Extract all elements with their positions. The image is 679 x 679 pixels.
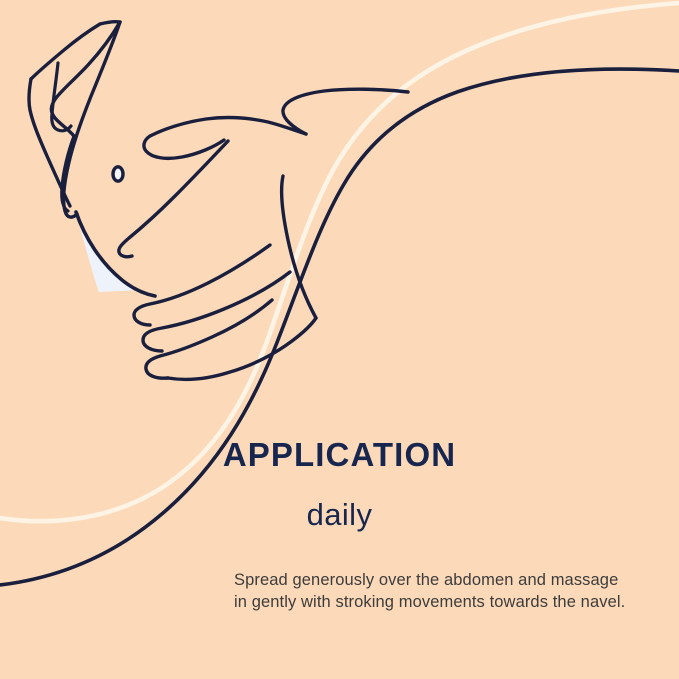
fabric-edge-line: [76, 212, 155, 296]
lower-hand-finger-2: [134, 245, 270, 325]
upper-hand-wrist: [29, 79, 70, 206]
navel: [113, 167, 123, 181]
upper-hand-finger-fold: [62, 136, 74, 211]
lower-hand-wrist-contour: [282, 176, 316, 318]
lower-hand-thumb: [144, 136, 224, 158]
frequency-subtitle: daily: [0, 499, 679, 530]
lower-hand-finger-4: [146, 300, 272, 378]
lower-hand-thumb-top: [150, 118, 306, 136]
lower-hand-outer-edge: [168, 318, 316, 379]
upper-hand-outer-edge: [51, 22, 120, 136]
upper-hand-thumb: [64, 22, 120, 217]
text-block: APPLICATION daily: [0, 438, 679, 530]
lower-hand-top-edge: [283, 89, 408, 134]
page-title: APPLICATION: [0, 438, 679, 471]
lower-hand-finger-3: [143, 272, 290, 351]
upper-hand-index-crease: [52, 63, 71, 131]
lower-hand-finger-1: [119, 141, 228, 257]
instruction-card: APPLICATION daily Spread generously over…: [0, 0, 679, 679]
instruction-text: Spread generously over the abdomen and m…: [234, 570, 634, 613]
upper-hand-knuckle-line: [100, 22, 120, 24]
underwear-edge: [77, 217, 140, 292]
upper-hand-wrist-top: [31, 24, 100, 79]
